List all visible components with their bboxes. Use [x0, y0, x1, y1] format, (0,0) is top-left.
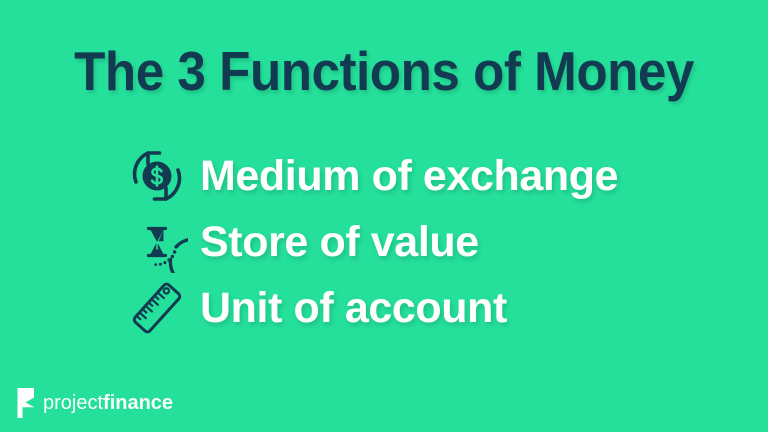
- list-item-label: Unit of account: [200, 287, 507, 330]
- logo-wordmark: projectfinance: [43, 393, 173, 413]
- list-item: Unit of account: [126, 275, 746, 341]
- logo-text-project: project: [43, 392, 103, 414]
- projectfinance-logo: projectfinance: [16, 388, 173, 418]
- list-item: Medium of exchange: [126, 143, 746, 209]
- hourglass-icon: [126, 211, 188, 273]
- logo-text-finance: finance: [103, 392, 173, 414]
- list-item-label: Store of value: [200, 221, 479, 264]
- page-title: The 3 Functions of Money: [27, 44, 741, 99]
- projectfinance-flag-icon: [16, 388, 36, 418]
- list-item-label: Medium of exchange: [200, 155, 618, 198]
- ruler-icon: [126, 277, 188, 339]
- functions-list: Medium of exchange: [126, 143, 746, 341]
- list-item: Store of value: [126, 209, 746, 275]
- slide-canvas: The 3 Functions of Money M: [0, 0, 768, 432]
- dollar-exchange-icon: [126, 145, 188, 207]
